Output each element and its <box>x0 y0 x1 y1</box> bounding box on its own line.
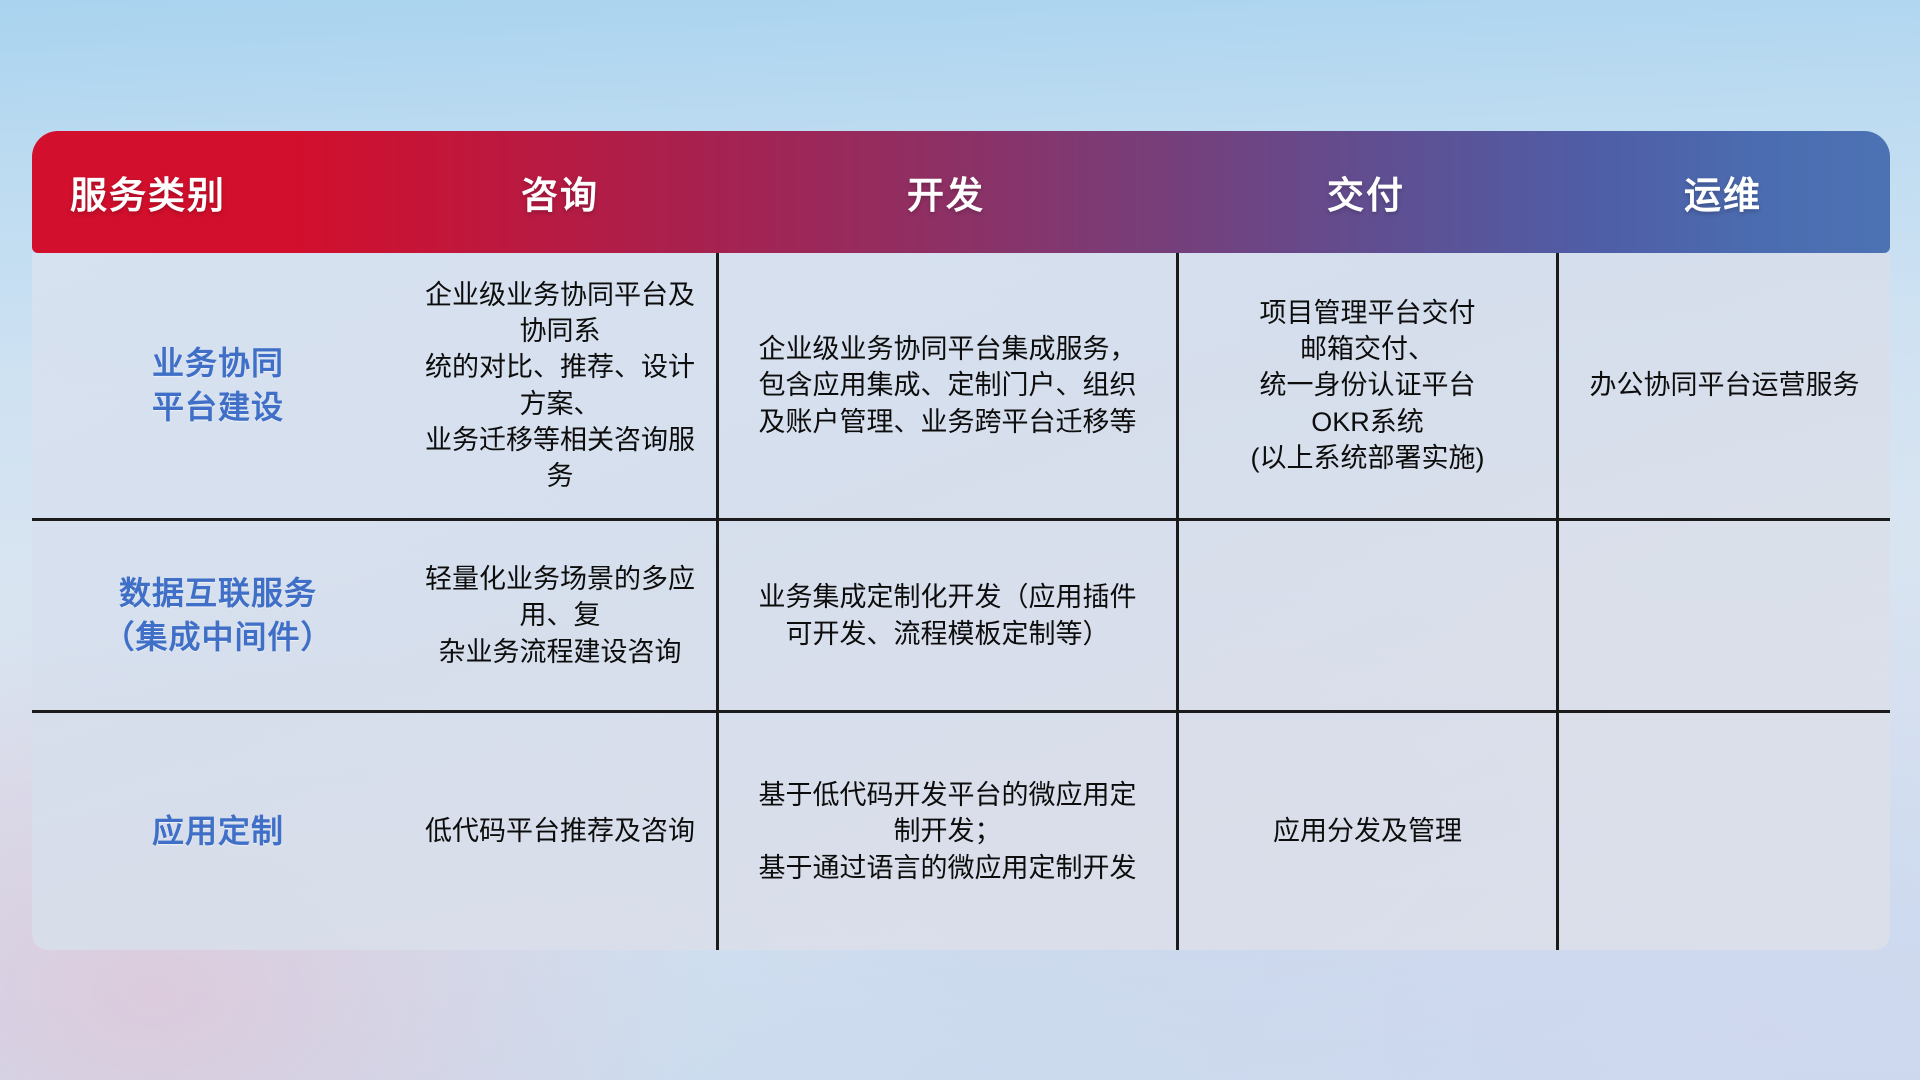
row-category-label: 应用定制 <box>32 713 404 950</box>
cell-operations <box>1556 713 1890 950</box>
cell-delivery: 项目管理平台交付 邮箱交付、 统一身份认证平台 OKR系统 (以上系统部署实施) <box>1176 253 1556 518</box>
row-category-label: 业务协同 平台建设 <box>32 253 404 518</box>
cell-development: 基于低代码开发平台的微应用定 制开发； 基于通过语言的微应用定制开发 <box>716 713 1176 950</box>
cell-development: 业务集成定制化开发（应用插件 可开发、流程模板定制等） <box>716 521 1176 710</box>
service-matrix-table: 服务类别 咨询 开发 交付 运维 业务协同 平台建设 企业级业务协同平台及协同系… <box>32 131 1890 950</box>
column-header-delivery: 交付 <box>1176 131 1556 253</box>
cell-development: 企业级业务协同平台集成服务， 包含应用集成、定制门户、组织 及账户管理、业务跨平… <box>716 253 1176 518</box>
column-header-operations: 运维 <box>1556 131 1890 253</box>
table-row: 业务协同 平台建设 企业级业务协同平台及协同系 统的对比、推荐、设计方案、 业务… <box>32 253 1890 518</box>
column-header-development: 开发 <box>716 131 1176 253</box>
cell-consulting: 企业级业务协同平台及协同系 统的对比、推荐、设计方案、 业务迁移等相关咨询服务 <box>404 253 716 518</box>
cell-delivery <box>1176 521 1556 710</box>
column-header-category: 服务类别 <box>32 131 404 253</box>
table-body: 业务协同 平台建设 企业级业务协同平台及协同系 统的对比、推荐、设计方案、 业务… <box>32 253 1890 950</box>
row-category-label: 数据互联服务 （集成中间件） <box>32 521 404 710</box>
table-row: 数据互联服务 （集成中间件） 轻量化业务场景的多应用、复 杂业务流程建设咨询 业… <box>32 518 1890 710</box>
column-header-consulting: 咨询 <box>404 131 716 253</box>
cell-delivery: 应用分发及管理 <box>1176 713 1556 950</box>
cell-consulting: 轻量化业务场景的多应用、复 杂业务流程建设咨询 <box>404 521 716 710</box>
cell-operations <box>1556 521 1890 710</box>
table-header-row: 服务类别 咨询 开发 交付 运维 <box>32 131 1890 253</box>
cell-operations: 办公协同平台运营服务 <box>1556 253 1890 518</box>
table-row: 应用定制 低代码平台推荐及咨询 基于低代码开发平台的微应用定 制开发； 基于通过… <box>32 710 1890 950</box>
cell-consulting: 低代码平台推荐及咨询 <box>404 713 716 950</box>
slide-canvas: 服务类别 咨询 开发 交付 运维 业务协同 平台建设 企业级业务协同平台及协同系… <box>0 0 1920 1080</box>
